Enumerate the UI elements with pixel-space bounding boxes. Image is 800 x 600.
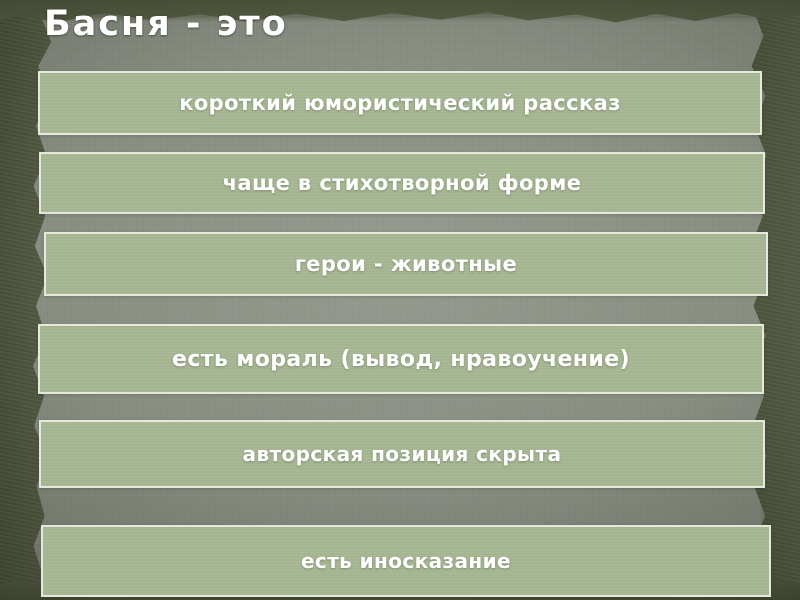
definition-box-4[interactable]: есть мораль (вывод, нравоучение) (38, 324, 764, 394)
paper-edge-left (0, 0, 34, 600)
definition-box-1[interactable]: короткий юмористический рассказ (38, 71, 762, 135)
paper-edge-right (760, 0, 800, 600)
slide-title: Басня - это (44, 4, 288, 44)
definition-box-label: есть мораль (вывод, нравоучение) (172, 347, 630, 372)
definition-box-label: короткий юмористический рассказ (179, 91, 621, 115)
definition-box-label: есть иносказание (301, 549, 511, 573)
definition-box-2[interactable]: чаще в стихотворной форме (39, 152, 765, 214)
definition-box-3[interactable]: герои - животные (44, 232, 768, 296)
definition-box-5[interactable]: авторская позиция скрыта (39, 420, 765, 488)
definition-box-6[interactable]: есть иносказание (41, 525, 771, 597)
slide-canvas: Басня - это короткий юмористический расс… (0, 0, 800, 600)
definition-box-label: авторская позиция скрыта (243, 442, 562, 466)
definition-box-label: чаще в стихотворной форме (223, 171, 582, 195)
definition-box-label: герои - животные (295, 252, 517, 276)
